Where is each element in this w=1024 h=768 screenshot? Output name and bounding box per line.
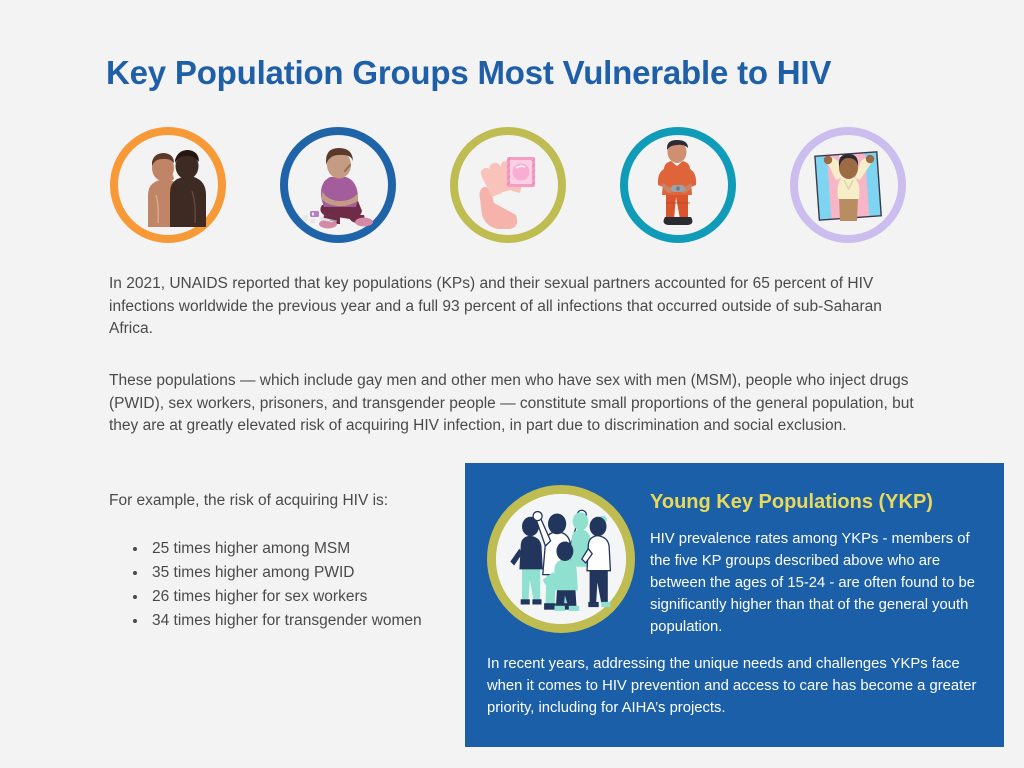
hand-holding-condom-icon (450, 127, 566, 243)
ykp-heading: Young Key Populations (YKP) (650, 491, 933, 514)
ykp-paragraph-priority: In recent years, addressing the unique n… (487, 653, 995, 719)
young-people-group-icon (487, 485, 635, 633)
msm-couple-icon (110, 127, 226, 243)
list-item: 25 times higher among MSM (148, 537, 468, 561)
list-item: 26 times higher for sex workers (148, 585, 468, 609)
ykp-paragraph-prevalence: HIV prevalence rates among YKPs - member… (650, 528, 990, 638)
list-item: 34 times higher for transgender women (148, 609, 468, 633)
page-title: Key Population Groups Most Vulnerable to… (106, 54, 831, 92)
transgender-flag-person-icon (790, 127, 906, 243)
paragraph-risk-intro: For example, the risk of acquiring HIV i… (109, 490, 469, 513)
paragraph-populations-definition: These populations — which include gay me… (109, 370, 927, 438)
key-population-icon-row (110, 127, 920, 243)
risk-multiplier-list: 25 times higher among MSM 35 times highe… (128, 537, 468, 633)
paragraph-unaids-stats: In 2021, UNAIDS reported that key popula… (109, 273, 921, 341)
list-item: 35 times higher among PWID (148, 561, 468, 585)
infographic-page: Key Population Groups Most Vulnerable to… (0, 0, 1024, 768)
person-injecting-drugs-icon (280, 127, 396, 243)
prisoner-handcuffed-icon (620, 127, 736, 243)
ykp-callout-panel: Young Key Populations (YKP) HIV prevalen… (465, 463, 1004, 747)
